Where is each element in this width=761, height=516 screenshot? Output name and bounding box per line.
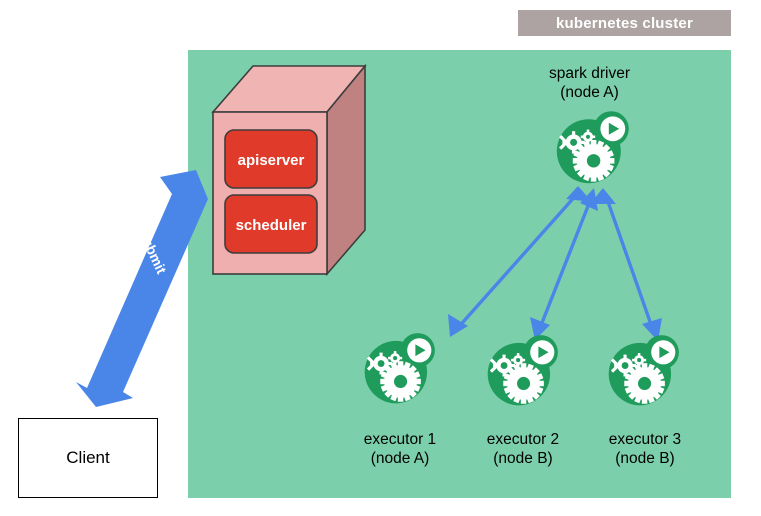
executor-3-icon: [604, 332, 682, 410]
client-label: Client: [66, 448, 109, 468]
spark-driver-label: spark driver (node A): [522, 64, 657, 102]
executor-1-icon: [360, 330, 438, 408]
executor-2-label: executor 2 (node B): [458, 430, 588, 468]
diagram-canvas: kubernetes cluster apiserver scheduler: [0, 0, 761, 516]
spark-driver-icon: [552, 108, 632, 188]
executor-1-label: executor 1 (node A): [335, 430, 465, 468]
kubernetes-master-box: apiserver scheduler: [205, 60, 370, 280]
kubernetes-cluster-label: kubernetes cluster: [518, 10, 731, 36]
gears-play-icon: [557, 111, 629, 183]
gears-play-icon: [609, 335, 679, 405]
spark-submit-label: spark-submit: [111, 175, 176, 291]
client-box: Client: [18, 418, 158, 498]
executor-2-icon: [483, 332, 561, 410]
executor-3-label: executor 3 (node B): [580, 430, 710, 468]
apiserver-label: apiserver: [238, 152, 305, 169]
scheduler-label: scheduler: [236, 217, 307, 234]
gears-play-icon: [365, 333, 435, 403]
gears-play-icon: [488, 335, 558, 405]
